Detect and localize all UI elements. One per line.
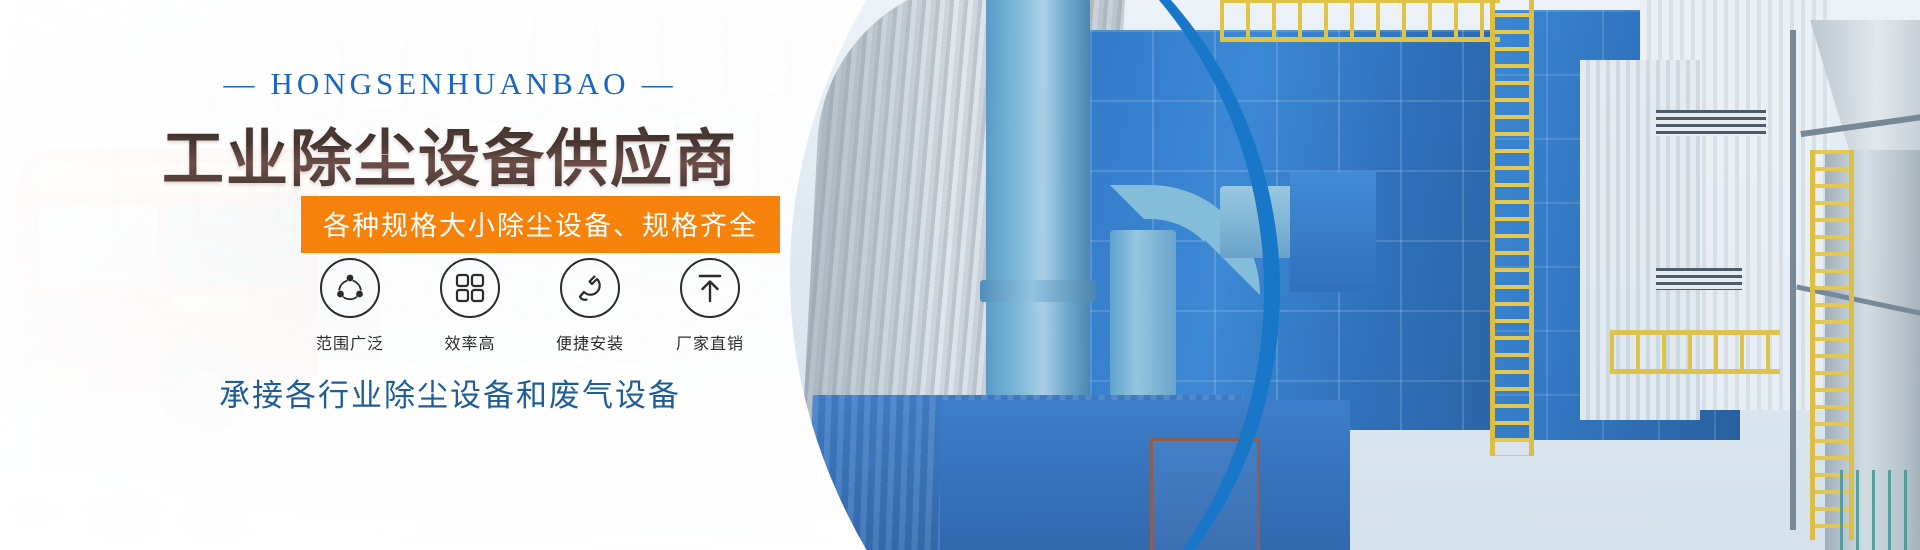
feature-item-efficiency[interactable]: 效率高 xyxy=(420,258,520,354)
feature-item-direct-sales[interactable]: 厂家直销 xyxy=(660,258,760,354)
arrow-up-ceiling-icon xyxy=(680,258,740,318)
banner-content: —HONGSENHUANBAO— 工业除尘设备供应商 各种规格大小除尘设备、规格… xyxy=(0,0,900,550)
feature-label: 厂家直销 xyxy=(660,330,760,354)
feature-item-coverage[interactable]: 范围广泛 xyxy=(300,258,400,354)
hopper-inlet-box xyxy=(1290,172,1376,292)
eyebrow-pinyin: —HONGSENHUANBAO— xyxy=(0,66,900,102)
caged-ladder xyxy=(1490,0,1534,456)
exhaust-stack xyxy=(986,0,1090,420)
building-louver-vent xyxy=(1656,110,1766,136)
feature-item-installation[interactable]: 便捷安装 xyxy=(540,258,640,354)
eyebrow-dash-right: — xyxy=(630,66,689,102)
grid-squares-icon xyxy=(440,258,500,318)
feature-label: 效率高 xyxy=(420,330,520,354)
platform-railing xyxy=(1610,330,1780,374)
promo-banner: —HONGSENHUANBAO— 工业除尘设备供应商 各种规格大小除尘设备、规格… xyxy=(0,0,1920,550)
page-title: 工业除尘设备供应商 xyxy=(0,108,900,198)
building-louver-vent-lower xyxy=(1656,268,1742,290)
wrench-icon xyxy=(560,258,620,318)
eyebrow-text: HONGSENHUANBAO xyxy=(270,66,629,101)
tagline: 承接各行业除尘设备和废气设备 xyxy=(0,370,900,415)
roof-railing xyxy=(1220,0,1500,42)
control-room-box xyxy=(940,400,1350,550)
exhaust-stack-flange xyxy=(980,280,1096,302)
dust-collector-photo xyxy=(790,0,1920,550)
feature-list: 范围广泛 效率高 xyxy=(300,258,760,354)
feature-label: 便捷安装 xyxy=(540,330,640,354)
steel-truss-vertical xyxy=(1790,30,1796,530)
subtitle-orange-bar: 各种规格大小除尘设备、规格齐全 xyxy=(301,196,780,253)
green-fence xyxy=(1840,470,1920,550)
feature-label: 范围广泛 xyxy=(300,330,400,354)
share-network-icon xyxy=(320,258,380,318)
access-door xyxy=(1150,438,1260,550)
eyebrow-dash-left: — xyxy=(211,66,270,102)
